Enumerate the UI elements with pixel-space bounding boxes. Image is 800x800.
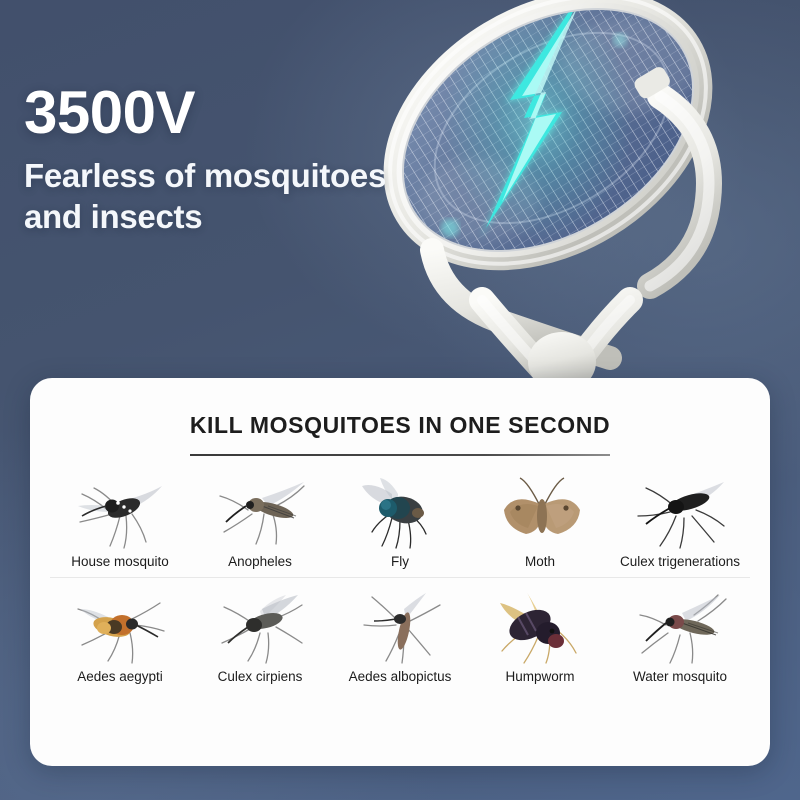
insect-tile: Fly xyxy=(330,472,470,569)
insect-label: Fly xyxy=(391,554,409,569)
mosquito-anopheles-icon xyxy=(206,472,314,550)
wasp-icon xyxy=(486,587,594,665)
hero-tagline: Fearless of mosquitoes and insects xyxy=(24,156,494,238)
hero-tagline-line-1: Fearless of mosquitoes xyxy=(24,156,494,197)
hero-tagline-line-2: and insects xyxy=(24,197,494,238)
insect-row-2: Aedes aegypti Culex cirpiens Aedes albop… xyxy=(50,577,750,684)
insect-tile: House mosquito xyxy=(50,472,190,569)
moth-icon xyxy=(486,472,594,550)
insect-feature-card: KILL MOSQUITOES IN ONE SECOND House mosq… xyxy=(30,378,770,766)
insect-label: House mosquito xyxy=(71,554,169,569)
card-title-divider xyxy=(190,454,610,456)
insect-tile: Humpworm xyxy=(470,587,610,684)
insect-label: Aedes aegypti xyxy=(77,669,163,684)
insect-tile: Moth xyxy=(470,472,610,569)
racket-handle xyxy=(432,250,630,390)
insect-row-1: House mosquito Anopheles Fly xyxy=(50,472,750,569)
insect-label: Moth xyxy=(525,554,555,569)
card-title: KILL MOSQUITOES IN ONE SECOND xyxy=(190,412,610,439)
insect-tile: Aedes aegypti xyxy=(50,587,190,684)
insect-label: Anopheles xyxy=(228,554,292,569)
insect-label: Water mosquito xyxy=(633,669,727,684)
insect-label: Culex trigenerations xyxy=(620,554,740,569)
insect-tile: Culex cirpiens xyxy=(190,587,330,684)
insect-label: Aedes albopictus xyxy=(349,669,452,684)
hero-headline: 3500V Fearless of mosquitoes and insects xyxy=(24,83,494,238)
insect-tile: Culex trigenerations xyxy=(610,472,750,569)
mosquito-striped-icon xyxy=(66,472,174,550)
mosquito-grey-icon xyxy=(206,587,314,665)
mosquito-slim-icon xyxy=(346,587,454,665)
insect-label: Culex cirpiens xyxy=(218,669,303,684)
insect-label: Humpworm xyxy=(505,669,574,684)
insect-tile: Water mosquito xyxy=(610,587,750,684)
mosquito-water-icon xyxy=(626,587,734,665)
voltage-label: 3500V xyxy=(24,83,494,143)
insect-tile: Anopheles xyxy=(190,472,330,569)
housefly-icon xyxy=(346,472,454,550)
mosquito-dark-icon xyxy=(626,472,734,550)
insect-tile: Aedes albopictus xyxy=(330,587,470,684)
mosquito-orange-icon xyxy=(66,587,174,665)
